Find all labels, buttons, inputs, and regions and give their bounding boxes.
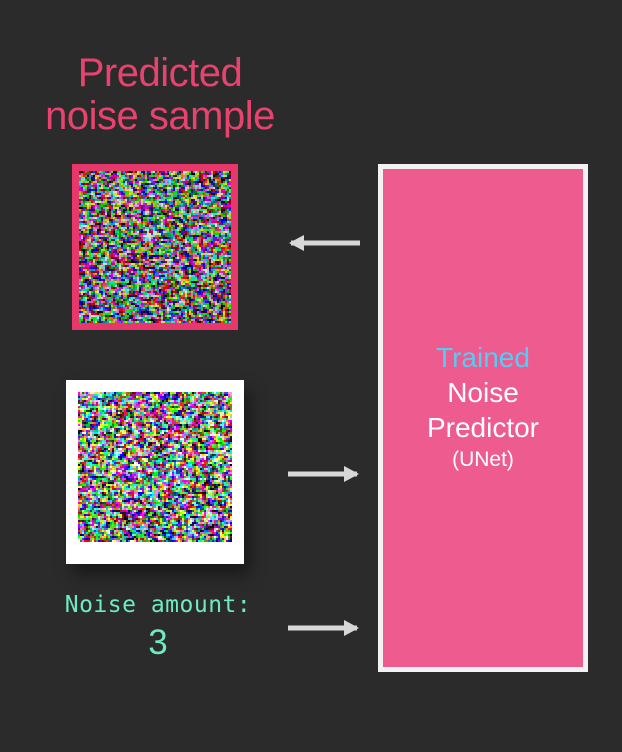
diagram-canvas: Predicted noise sample Noise amount: 3 T… xyxy=(0,0,622,752)
unet-sub-label: (UNet) xyxy=(452,445,514,474)
arrow-right-icon xyxy=(288,615,360,641)
noise-amount-label: Noise amount: xyxy=(40,594,276,617)
predicted-noise-sample-image xyxy=(72,164,238,330)
noise-amount-value: 3 xyxy=(40,623,276,663)
unet-trained-label: Trained xyxy=(436,340,530,375)
noise-amount-block: Noise amount: 3 xyxy=(40,594,276,663)
page-title: Predicted noise sample xyxy=(0,52,320,138)
unet-predictor-label: Predictor xyxy=(427,410,539,445)
trained-noise-predictor-box: Trained Noise Predictor (UNet) xyxy=(378,164,588,672)
noise-texture-predicted xyxy=(79,171,231,323)
arrow-left-icon xyxy=(288,230,360,256)
arrow-right-icon xyxy=(288,461,360,487)
noise-texture-input xyxy=(78,392,232,542)
unet-noise-label: Noise xyxy=(447,375,519,410)
input-noisy-image xyxy=(66,380,244,564)
